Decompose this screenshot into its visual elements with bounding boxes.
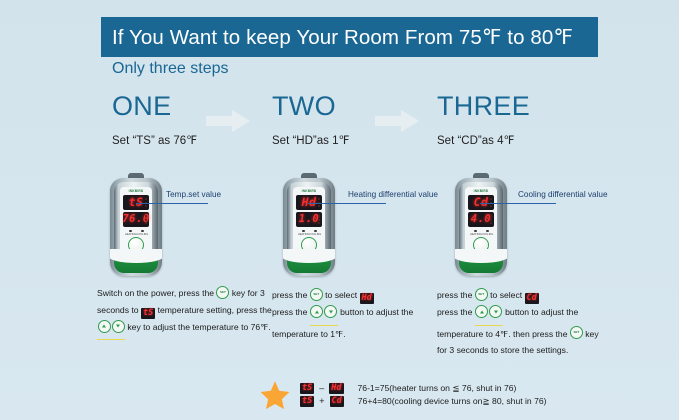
instruction-three-text-2: to select (488, 290, 525, 300)
lcd-bottom-value: 1.0 (299, 214, 319, 225)
cooling-led: COOLING (481, 230, 493, 236)
device-base (459, 256, 503, 273)
instruction-two-text-2: to select (323, 290, 360, 300)
instruction-one-chip-ts: tS (141, 308, 155, 319)
instruction-block-one: Switch on the power, press the key for 3… (97, 285, 282, 340)
up-button-icon (98, 320, 111, 333)
led-indicator-row: HEATING COOLING (468, 230, 494, 236)
device-body: INKBIRD Cd 4.0 HEATING COOLING (455, 178, 507, 276)
step-two-subtitle: Set “HD”as 1℉ (272, 133, 349, 147)
down-button-icon (324, 305, 337, 318)
step-one-subtitle: Set “TS” as 76℉ (112, 133, 197, 147)
formula-operator-plus: + (318, 395, 325, 408)
set-button-icon (475, 288, 488, 301)
device-inner-shell: INKBIRD Cd 4.0 HEATING COOLING (459, 182, 503, 273)
arrow-buttons-icon (97, 320, 125, 341)
down-button-icon (112, 320, 125, 333)
instruction-one-text-4: key to adjust the temperature to 76℉. (125, 322, 271, 332)
lcd-indicator-dots (490, 215, 492, 224)
lcd-bottom-display: 76.0 (123, 212, 149, 227)
heating-led-label: HEATING (470, 233, 481, 236)
cooling-led-label: COOLING (136, 233, 148, 236)
device-base (287, 256, 331, 273)
instruction-three-text-5: then press the (513, 329, 570, 339)
up-button-icon (310, 305, 323, 318)
callout-label-heating-diff: Heating differential value (348, 190, 438, 199)
device-body: INKBIRD Hd 1.0 HEATING COOLING (283, 178, 335, 276)
lcd-indicator-dots (318, 215, 320, 224)
formula-row-cooling: tS + Cd 76+4=80(cooling device turns on≧… (300, 395, 547, 408)
formula-row-heating: tS – Hd 76-1=75(heater turns on ≦ 76, sh… (300, 382, 547, 395)
formula-chip-hd: Hd (329, 383, 343, 394)
heating-led-label: HEATING (125, 233, 136, 236)
set-button-icon (216, 286, 229, 299)
instruction-one-text-3: temperature setting, press the (155, 305, 272, 315)
step-header-one: ONE Set “TS” as 76℉ (112, 93, 197, 147)
temperature-controller-device: INKBIRD tS 76.0 HEATING COOLING (110, 178, 162, 276)
step-three-subtitle: Set “CD”as 4℉ (437, 133, 530, 147)
title-bar: If You Want to keep Your Room From 75℉ t… (101, 17, 598, 57)
instruction-three-text-3: press the (437, 307, 475, 317)
lcd-indicator-dots (145, 215, 147, 224)
heating-led-label: HEATING (298, 233, 309, 236)
device-base (114, 256, 158, 273)
formula-operator-minus: – (318, 382, 325, 395)
cooling-led-label: COOLING (481, 233, 493, 236)
arrow-buttons-icon (310, 305, 338, 326)
device-brand-label: INKBIRD (293, 189, 325, 193)
callout-leader-line (308, 203, 386, 204)
lcd-bottom-display: 1.0 (296, 212, 322, 227)
infographic-page: If You Want to keep Your Room From 75℉ t… (0, 0, 679, 420)
heating-led: HEATING (470, 230, 481, 236)
lcd-bottom-display: 4.0 (468, 212, 494, 227)
formula-chip-ts: tS (300, 396, 314, 407)
star-icon (260, 380, 290, 410)
temperature-controller-device: INKBIRD Cd 4.0 HEATING COOLING (455, 178, 507, 276)
formula-list: tS – Hd 76-1=75(heater turns on ≦ 76, sh… (300, 382, 547, 408)
cooling-led: COOLING (136, 230, 148, 236)
cooling-led: COOLING (309, 230, 321, 236)
arrow-right-icon (206, 110, 250, 132)
down-button-icon (489, 305, 502, 318)
instruction-three-chip-cd: Cd (525, 293, 539, 304)
formula-footer: tS – Hd 76-1=75(heater turns on ≦ 76, sh… (260, 380, 547, 410)
device-inner-shell: INKBIRD tS 76.0 HEATING COOLING (114, 182, 158, 273)
set-button-icon (570, 326, 583, 339)
instruction-two-text-3: press the (272, 307, 310, 317)
page-title: If You Want to keep Your Room From 75℉ t… (112, 25, 573, 50)
device-inner-shell: INKBIRD Hd 1.0 HEATING COOLING (287, 182, 331, 273)
step-three-word: THREE (437, 93, 530, 120)
device-body: INKBIRD tS 76.0 HEATING COOLING (110, 178, 162, 276)
set-button-icon (310, 288, 323, 301)
led-indicator-row: HEATING COOLING (296, 230, 322, 236)
lcd-bottom-value: 4.0 (471, 214, 491, 225)
device-brand-label: INKBIRD (465, 189, 497, 193)
page-subtitle: Only three steps (112, 60, 229, 78)
instruction-two-chip-hd: Hd (360, 293, 374, 304)
callout-leader-line (136, 203, 208, 204)
up-button-icon (475, 305, 488, 318)
step-header-two: TWO Set “HD”as 1℉ (272, 93, 349, 147)
instruction-three-text-1: press the (437, 290, 475, 300)
arrow-buttons-icon (475, 305, 503, 326)
cooling-led-label: COOLING (309, 233, 321, 236)
callout-label-temp-set: Temp.set value (166, 190, 221, 199)
formula-chip-ts: tS (300, 383, 314, 394)
step-two-word: TWO (272, 93, 349, 120)
callout-label-cooling-diff: Cooling differential value (518, 190, 608, 199)
formula-cooling-text: 76+4=80(cooling device turns on≧ 80, shu… (358, 395, 547, 408)
formula-heating-text: 76-1=75(heater turns on ≦ 76, shut in 76… (358, 382, 517, 395)
device-brand-label: INKBIRD (120, 189, 152, 193)
heating-led: HEATING (298, 230, 309, 236)
callout-leader-line (480, 203, 556, 204)
instruction-block-three: press the to select Cdpress the button t… (437, 287, 609, 359)
step-one-word: ONE (112, 93, 197, 120)
instruction-two-text-1: press the (272, 290, 310, 300)
instruction-one-text-1: Switch on the power, press the (97, 288, 216, 298)
instruction-block-two: press the to select Hdpress the button t… (272, 287, 432, 342)
heating-led: HEATING (125, 230, 136, 236)
arrow-right-icon (375, 110, 419, 132)
led-indicator-row: HEATING COOLING (123, 230, 149, 236)
temperature-controller-device: INKBIRD Hd 1.0 HEATING COOLING (283, 178, 335, 276)
formula-chip-cd: Cd (330, 396, 344, 407)
step-header-three: THREE Set “CD”as 4℉ (437, 93, 530, 147)
